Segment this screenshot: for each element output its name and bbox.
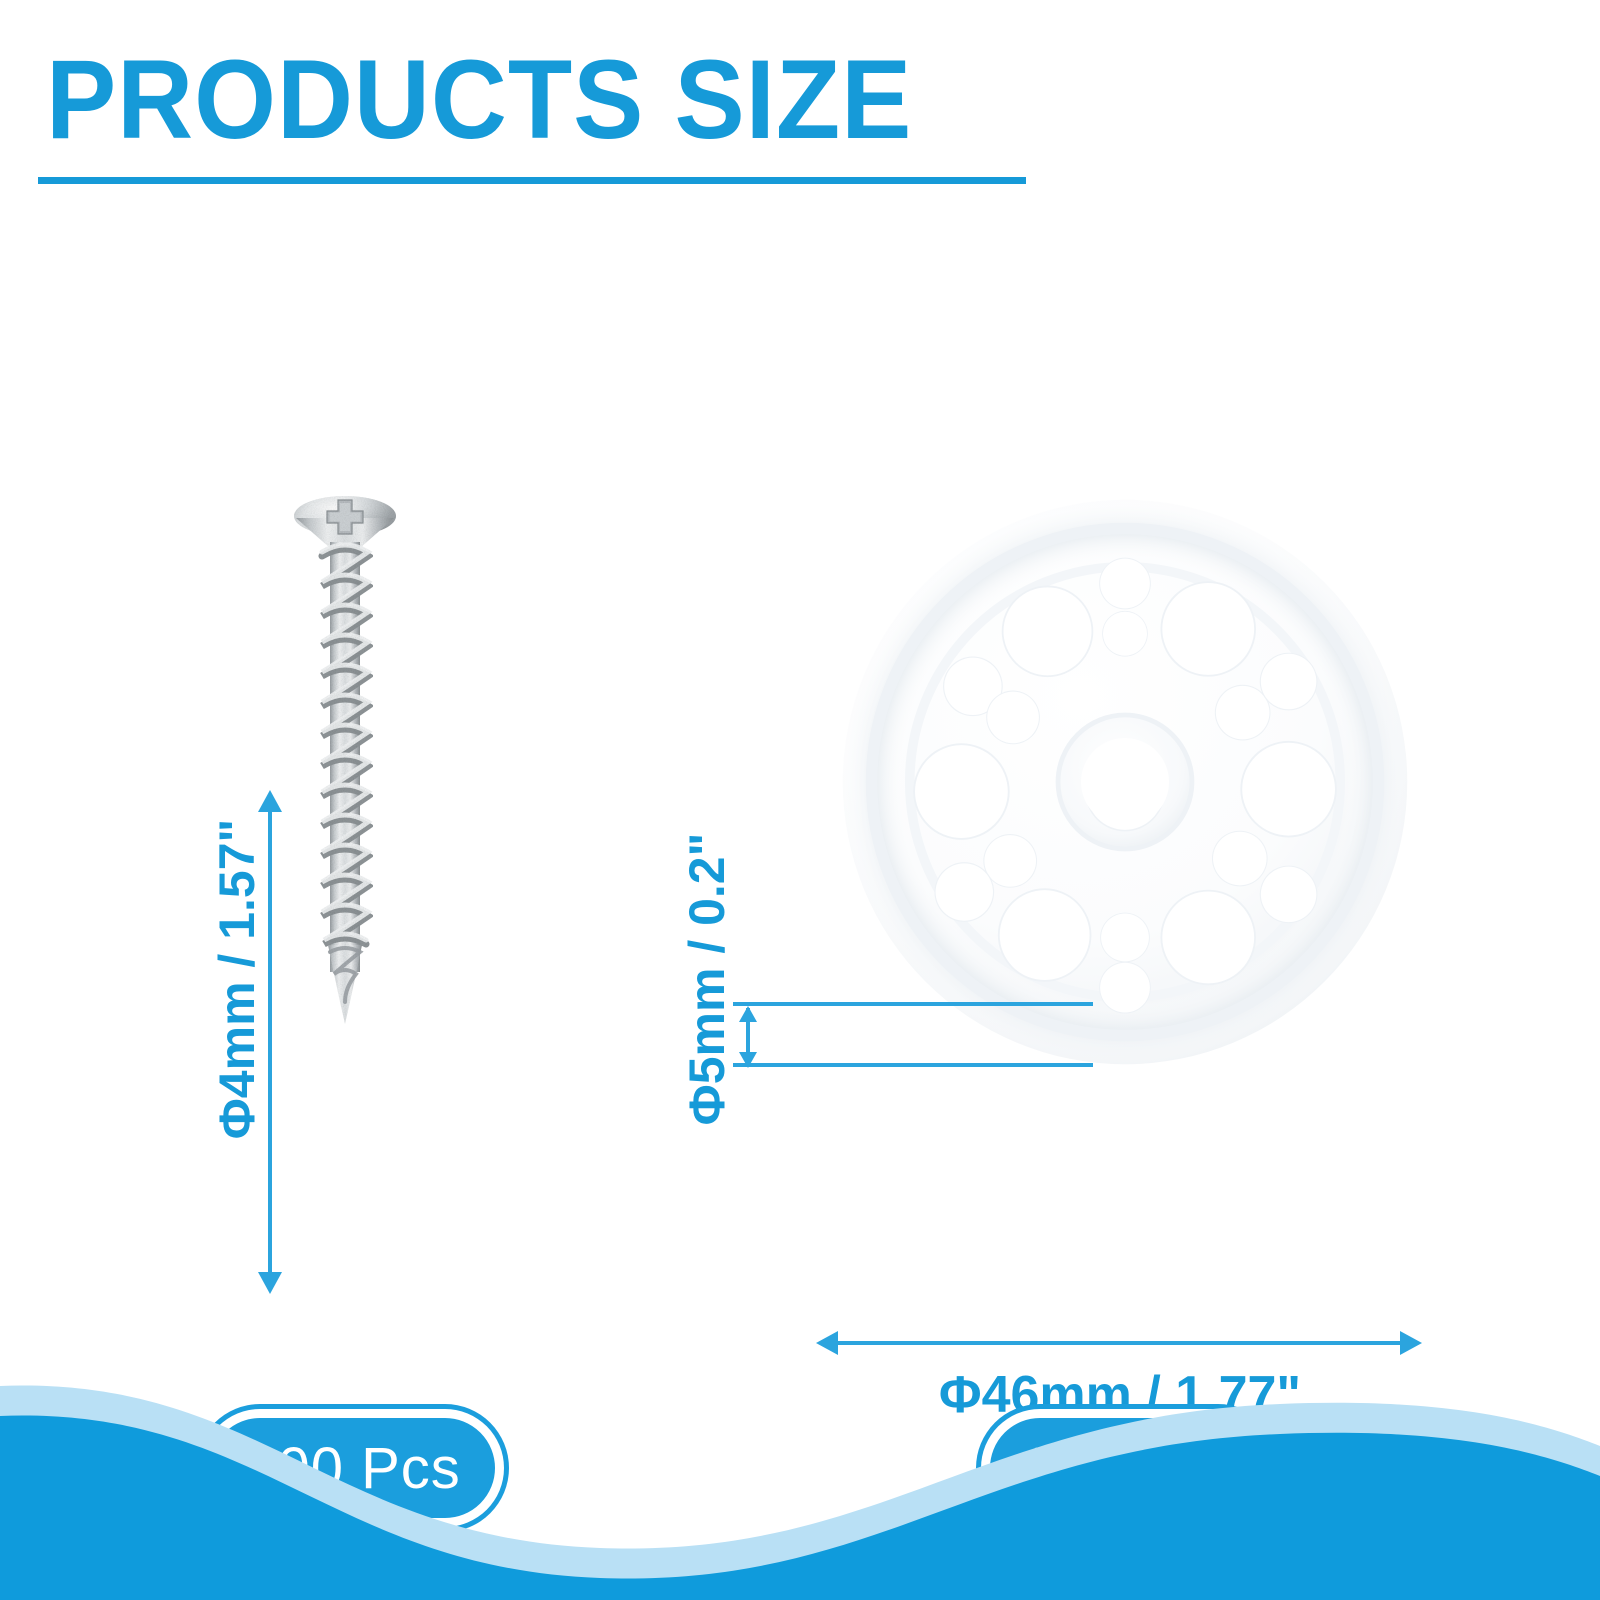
diameter-arrow-right xyxy=(1400,1331,1422,1355)
washer-hole xyxy=(1103,612,1147,656)
washer-hole xyxy=(1100,963,1150,1013)
hole-dimension-label: Φ5mm / 0.2" xyxy=(678,744,736,1214)
washer-disc-icon xyxy=(838,495,1412,1069)
screw-dimension-arrow-bottom xyxy=(258,1272,282,1294)
page-title: PRODUCTS SIZE xyxy=(46,44,912,156)
screw-dimension-label: Φ4mm / 1.57" xyxy=(208,744,266,1214)
washer-hole xyxy=(987,692,1039,744)
bottom-wave-decoration xyxy=(0,1370,1600,1600)
washer-center-hole xyxy=(1081,738,1169,826)
page-header: PRODUCTS SIZE xyxy=(0,0,1600,210)
washer-hole xyxy=(1162,583,1254,675)
product-screw-group: Φ4mm / 1.57" xyxy=(150,460,570,1080)
product-washer-group: Φ5mm / 0.2" Φ46mm / 1.77" xyxy=(620,460,1500,1160)
products-stage: Φ4mm / 1.57" xyxy=(0,210,1600,1390)
diameter-dimension-line xyxy=(832,1341,1404,1345)
screw-dimension-line xyxy=(268,808,272,1276)
washer-hole xyxy=(1213,832,1267,886)
washer-hole xyxy=(1100,559,1150,609)
washer-hole xyxy=(936,863,993,920)
washer-hole xyxy=(1261,867,1316,922)
washer-hole xyxy=(1162,892,1254,984)
hole-dimension-arrow-bottom xyxy=(739,1052,757,1068)
hole-extension-line-bottom xyxy=(733,1063,1093,1067)
washer-hole xyxy=(1000,890,1090,980)
washer-hole xyxy=(1242,743,1335,836)
washer-hole xyxy=(1101,914,1149,962)
washer-hole xyxy=(915,745,1008,838)
washer-hole xyxy=(984,835,1036,887)
hole-extension-line-top xyxy=(733,1002,1093,1006)
washer-hole xyxy=(1216,686,1270,740)
screw-icon xyxy=(290,490,400,1030)
title-underline xyxy=(38,177,1026,184)
washer-hole xyxy=(1004,587,1092,675)
washer-hole xyxy=(1261,654,1316,709)
